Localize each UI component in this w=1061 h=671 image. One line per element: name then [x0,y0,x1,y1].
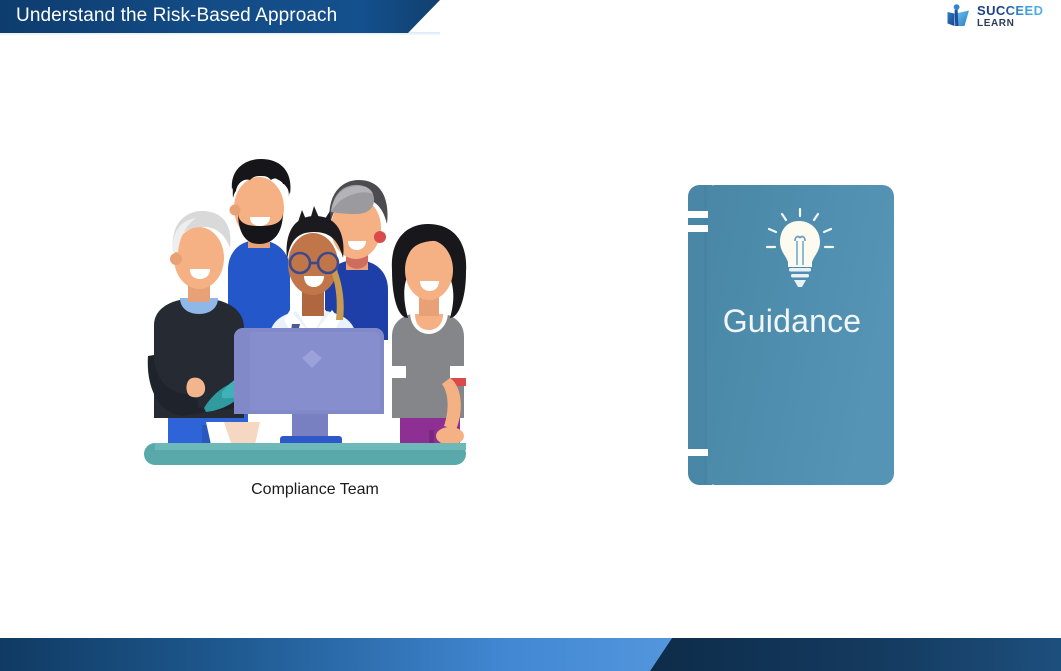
compliance-team-illustration [140,140,490,485]
logo-wordmark: SUCCEED LEARN [977,4,1043,29]
page-title: Understand the Risk-Based Approach [16,0,337,32]
person-book-logo-icon [946,3,972,29]
slide-canvas: Understand the Risk-Based Approach [0,0,1061,671]
guidance-book [686,183,898,487]
brand-logo[interactable]: SUCCEED LEARN [946,2,1051,30]
logo-line-2: LEARN [977,19,1043,29]
logo-line-1: SUCCEED [977,4,1043,17]
team-caption: Compliance Team [140,481,490,499]
footer-bar [0,638,1061,671]
